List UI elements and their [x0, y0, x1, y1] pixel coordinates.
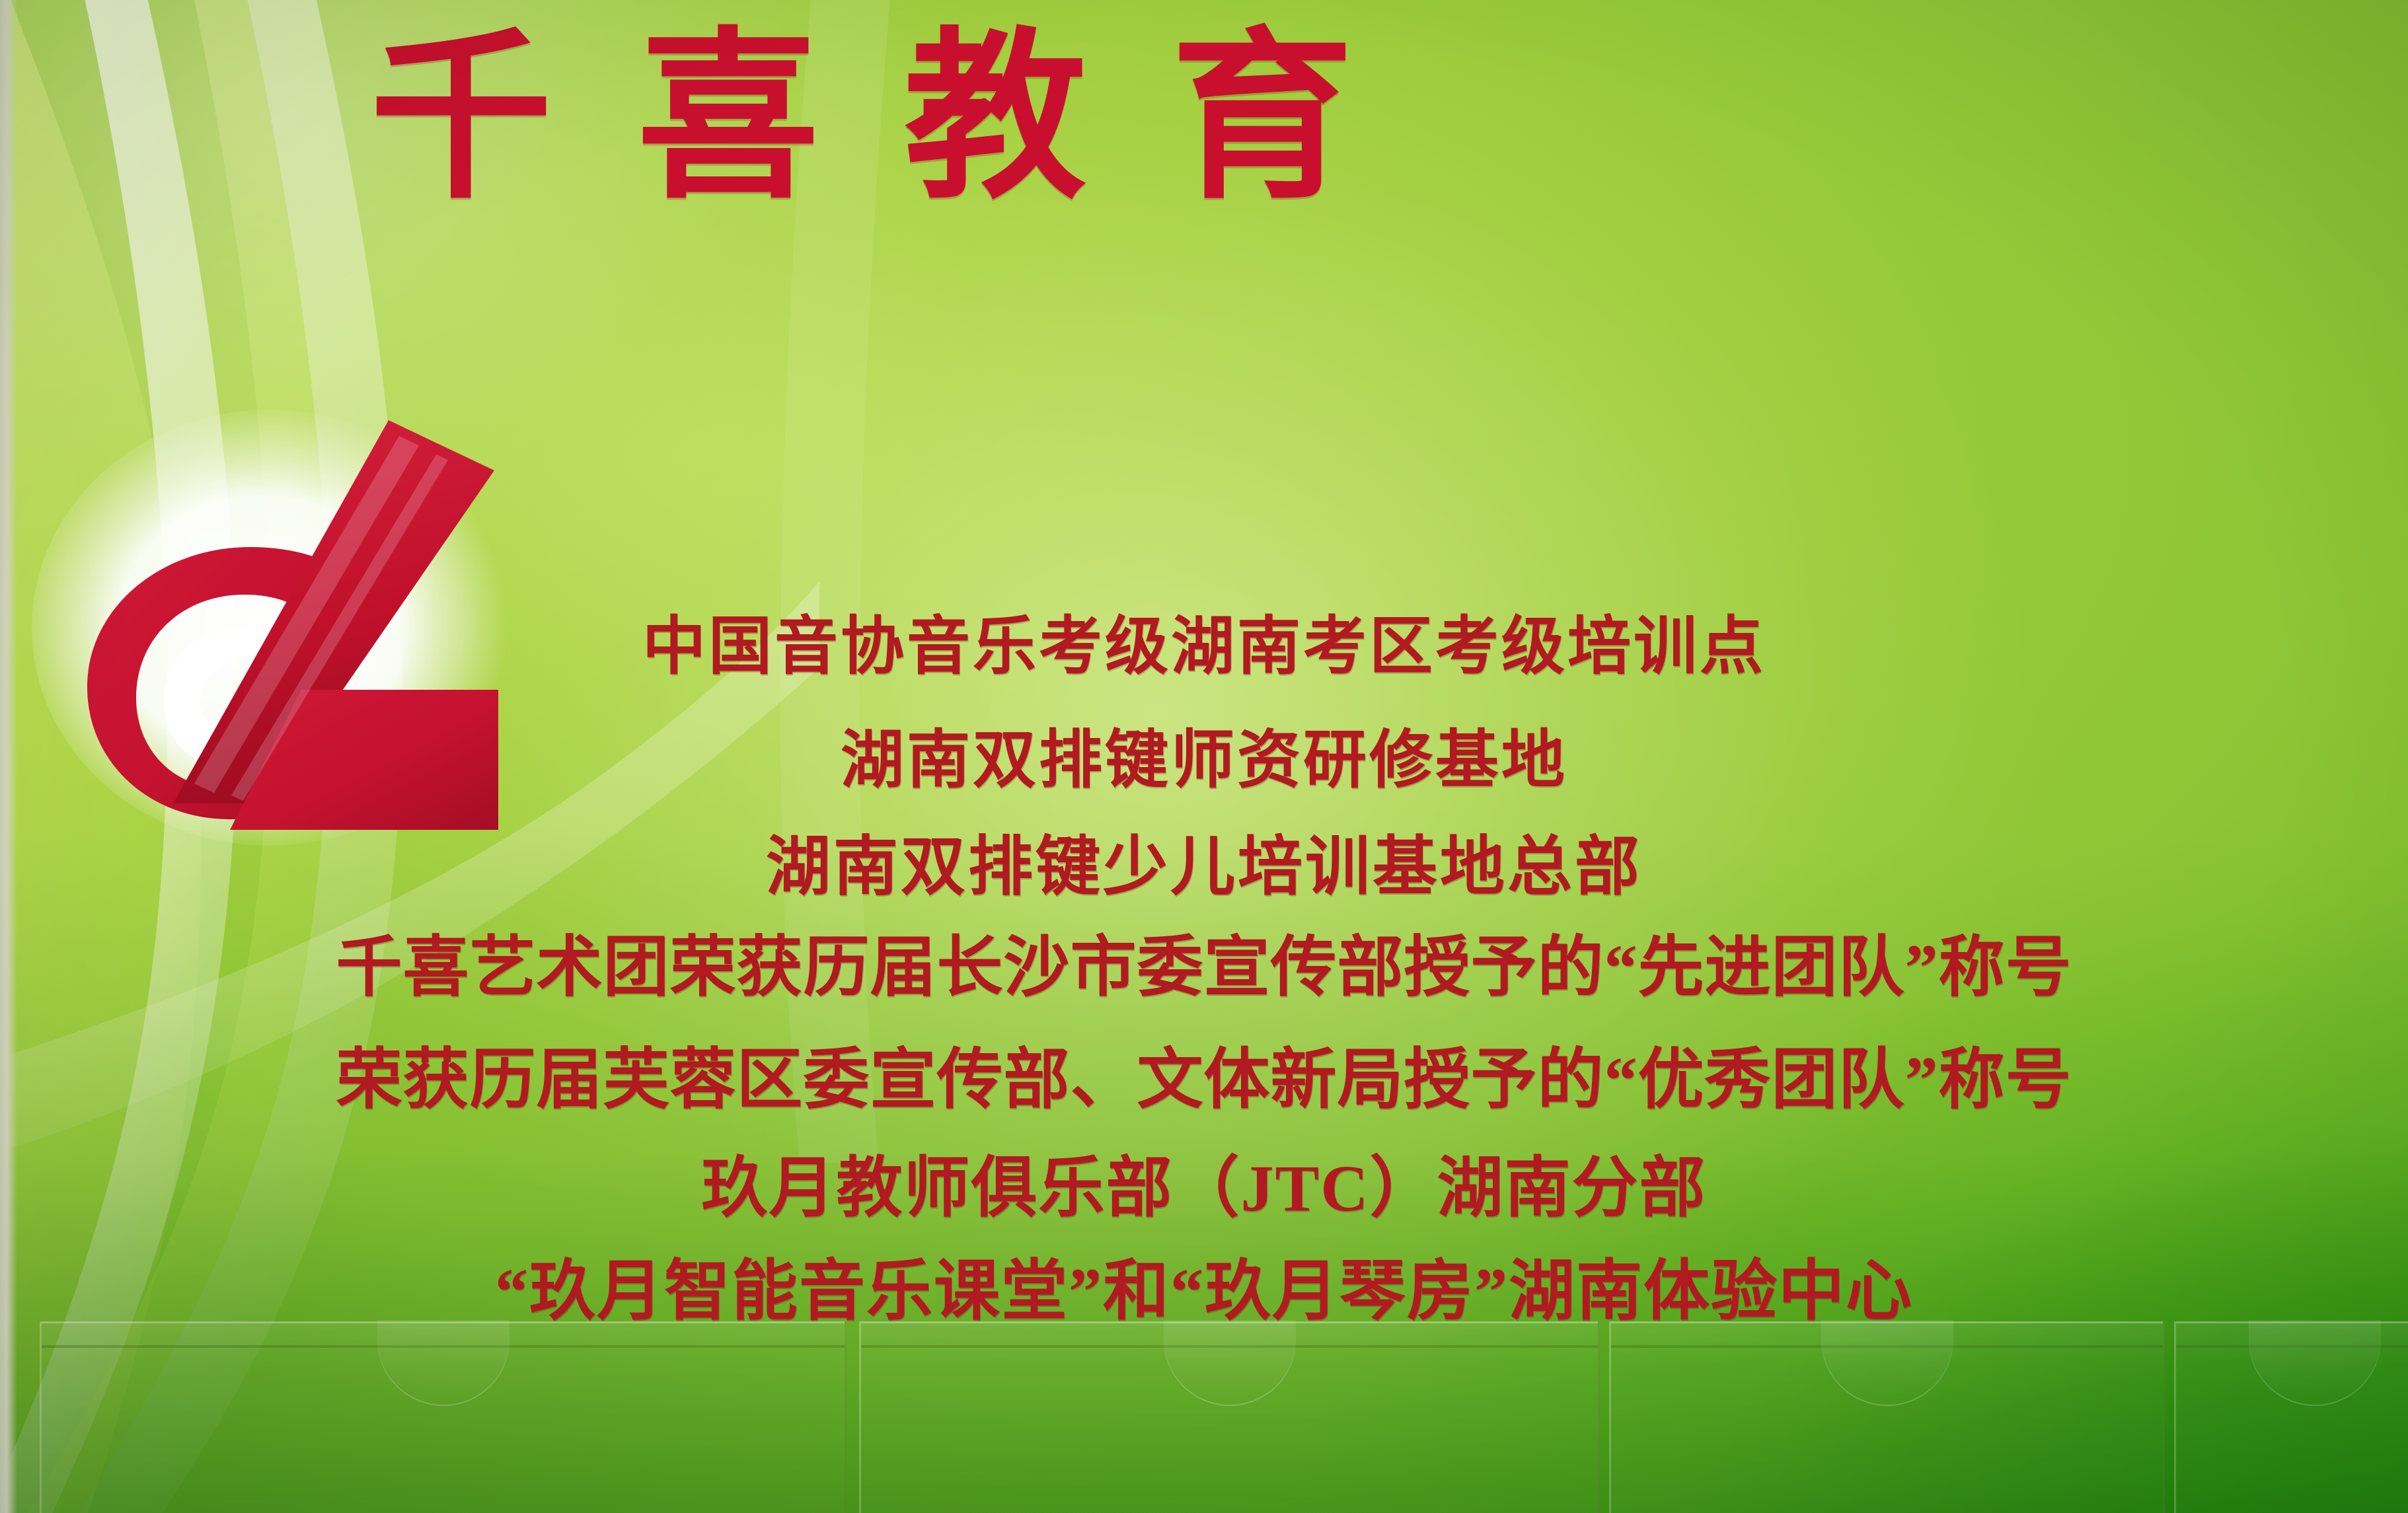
acrylic-brochure-holder[interactable] — [1609, 1321, 2165, 1513]
credential-line-2: 湖南双排键师资研修基地 — [0, 708, 2408, 800]
credential-line-4: 千喜艺术团荣获历届长沙市委宣传部授予的“先进团队”称号 — [0, 913, 2408, 1009]
credential-line-5: 荣获历届芙蓉区委宣传部、文体新局授予的“优秀团队”称号 — [0, 1025, 2408, 1121]
headline-char-2: 喜 — [637, 28, 819, 210]
headline-char-1: 千 — [370, 28, 552, 210]
holder-notch — [1821, 1320, 1953, 1406]
acrylic-brochure-holder[interactable] — [859, 1321, 1600, 1513]
acrylic-brochure-holder[interactable] — [2174, 1321, 2408, 1513]
sign-headline: 千 喜 教 育 — [370, 20, 2154, 218]
credential-line-6: 玖月教师俱乐部（JTC）湖南分部 — [0, 1134, 2408, 1230]
headline-char-4: 育 — [1171, 28, 1353, 210]
credential-line-3: 湖南双排键少儿培训基地总部 — [0, 814, 2408, 908]
holder-notch — [2249, 1320, 2381, 1406]
acrylic-brochure-holder[interactable] — [40, 1321, 847, 1513]
holder-notch — [377, 1320, 509, 1406]
headline-char-3: 教 — [904, 28, 1086, 210]
brochure-holder-row — [0, 1315, 2408, 1513]
holder-notch — [1164, 1320, 1296, 1406]
signboard-photo: 千 喜 教 育 中国音协音乐考级湖南考区考级培训点 湖南双排键师资研修基地 湖南… — [0, 0, 2408, 1513]
credential-line-1: 中国音协音乐考级湖南考区考级培训点 — [0, 595, 2408, 686]
